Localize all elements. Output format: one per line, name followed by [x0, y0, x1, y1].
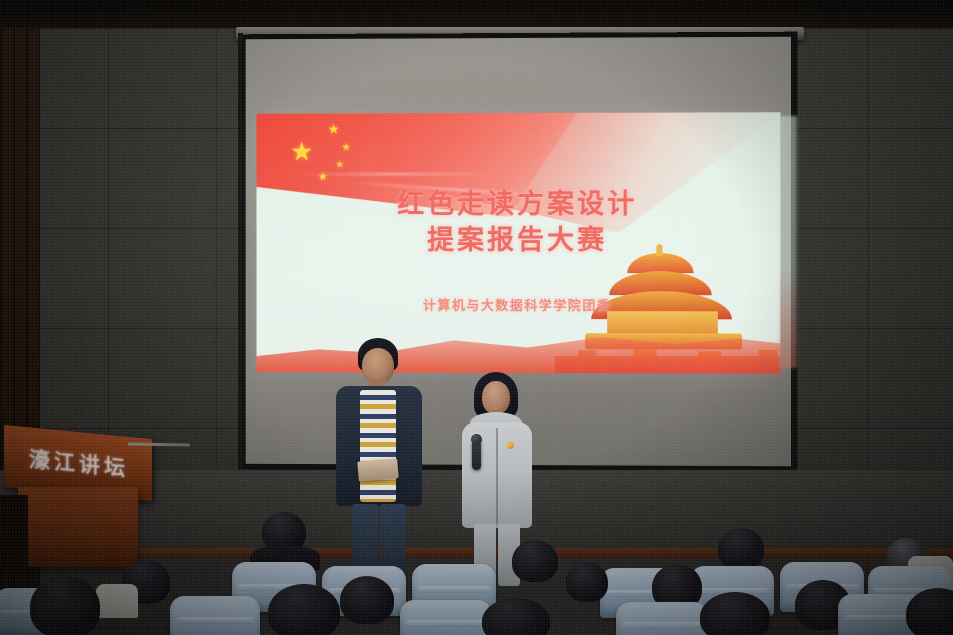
audience-head [700, 592, 770, 635]
slide-subtitle: 计算机与大数据科学学院团委 [257, 295, 781, 315]
audience-white-bag [96, 584, 138, 618]
presenter-right-pin-badge [507, 442, 514, 449]
flag-highlight-1 [296, 173, 495, 175]
slide-title: 红色走读方案设计 提案报告大赛 [257, 187, 781, 259]
screen-border-left [238, 33, 243, 471]
audience-head [718, 528, 764, 570]
seat [400, 600, 492, 635]
audience-head [566, 562, 608, 602]
audience-head [30, 576, 100, 635]
audience-head [340, 576, 394, 624]
presenter-left-notes [357, 458, 399, 481]
microphone-head [471, 434, 482, 445]
slide-title-line1: 红色走读方案设计 [257, 187, 781, 223]
presenter-left-striped-sweater [360, 390, 396, 502]
flag-star-2: ★ [342, 143, 351, 153]
presenter-right-hoodie-zip [496, 428, 498, 524]
plaque-text: 濠江讲坛 [14, 442, 144, 485]
presenter-left [330, 338, 440, 578]
audience-head [268, 584, 340, 635]
slide-title-line2: 提案报告大赛 [257, 223, 781, 259]
presenter-left-head [362, 348, 394, 384]
auditorium-photo: ★ ★ ★ ★ ★ 红色走读方案设计 提案报告大赛 计算机与大数据科学学院团委 … [0, 0, 953, 635]
flag-star-large: ★ [290, 139, 313, 165]
projected-slide: ★ ★ ★ ★ ★ 红色走读方案设计 提案报告大赛 计算机与大数据科学学院团委 [257, 112, 781, 373]
audience-head [512, 540, 558, 582]
flag-star-3: ★ [336, 161, 344, 170]
lectern-shadow-side [0, 495, 28, 570]
audience-head [482, 598, 550, 635]
seat [170, 596, 260, 635]
lectern [18, 487, 138, 567]
seat [616, 602, 708, 635]
projection-spill-on-wall [779, 116, 797, 368]
flag-star-1: ★ [328, 123, 340, 136]
